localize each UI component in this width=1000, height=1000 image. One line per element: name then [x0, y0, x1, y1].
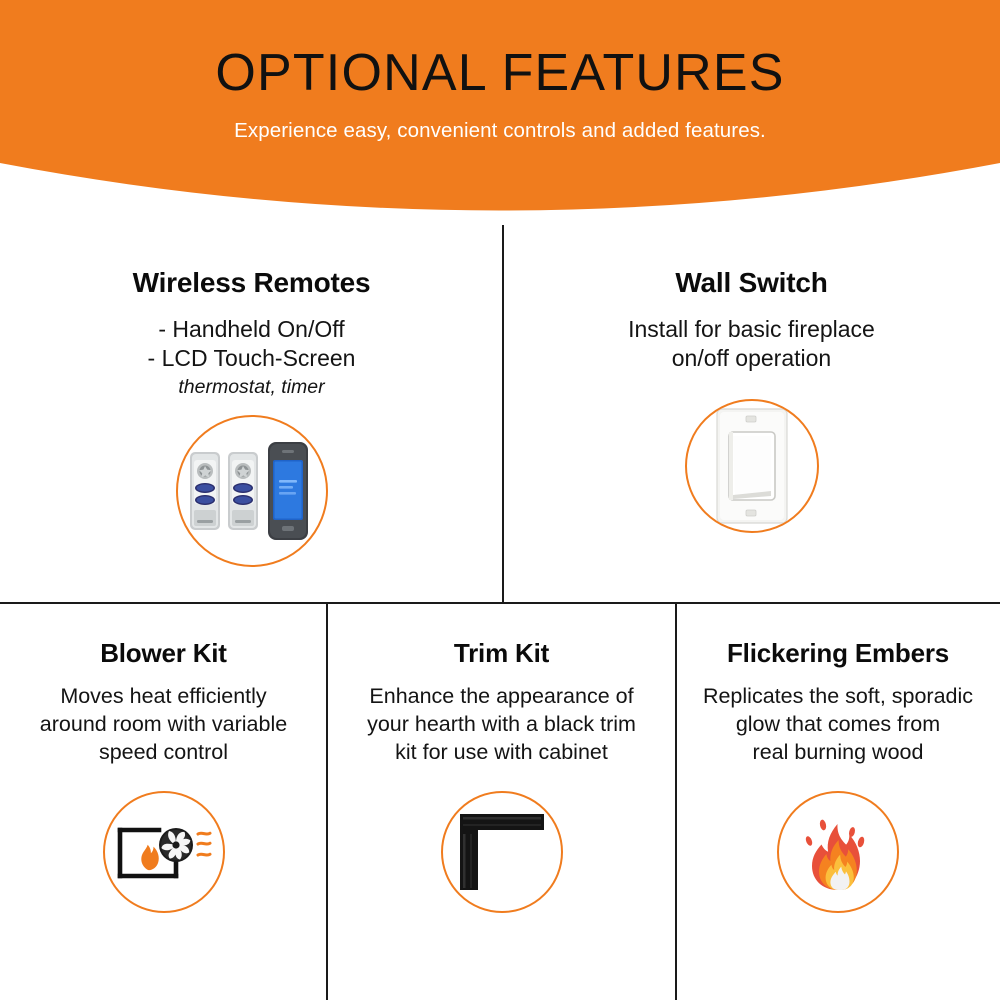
feature-description-line: Replicates the soft, sporadic	[703, 683, 973, 711]
feature-description-line: Install for basic fireplace	[628, 315, 875, 344]
feature-description-line: - Handheld On/Off	[148, 315, 356, 344]
feature-card-flickering-embers[interactable]: Flickering Embers Replicates the soft, s…	[676, 620, 1000, 913]
remotes-illustration	[182, 436, 322, 546]
airflow-lines	[198, 833, 210, 855]
feature-description-line: - LCD Touch-Screen	[148, 344, 356, 373]
feature-description-line: Enhance the appearance of	[367, 683, 636, 711]
corner-trim-icon	[441, 791, 563, 913]
feature-description-line: on/off operation	[628, 344, 875, 373]
feature-card-trim-kit[interactable]: Trim Kit Enhance the appearance of your …	[327, 620, 676, 913]
divider-horizontal-middle	[0, 602, 1000, 604]
lcd-touchscreen-remote	[268, 442, 308, 540]
handheld-remote-1	[190, 452, 220, 530]
feature-title: Flickering Embers	[727, 638, 949, 669]
page-title: OPTIONAL FEATURES	[0, 46, 1000, 101]
feature-title: Wireless Remotes	[133, 267, 371, 299]
feature-title: Wall Switch	[675, 267, 827, 299]
wireless-remotes-icon	[176, 415, 328, 567]
flame-shape	[141, 845, 158, 870]
wall-switch-illustration	[713, 407, 791, 525]
handheld-remote-2	[228, 452, 258, 530]
optional-features-page: OPTIONAL FEATURES Experience easy, conve…	[0, 0, 1000, 1000]
feature-description: Moves heat efficiently around room with …	[40, 683, 287, 767]
feature-title: Trim Kit	[454, 638, 549, 669]
feature-note: thermostat, timer	[178, 376, 324, 399]
feature-description-line: your hearth with a black trim	[367, 711, 636, 739]
features-grid: Wireless Remotes - Handheld On/Off - LCD…	[0, 225, 1000, 1000]
wall-switch-icon	[685, 399, 819, 533]
feature-card-wall-switch[interactable]: Wall Switch Install for basic fireplace …	[503, 245, 1000, 533]
feature-description: Enhance the appearance of your hearth wi…	[367, 683, 636, 767]
blower-illustration	[114, 814, 214, 890]
header-banner: OPTIONAL FEATURES Experience easy, conve…	[0, 0, 1000, 240]
blower-fan-icon	[103, 791, 225, 913]
feature-description-line: real burning wood	[703, 739, 973, 767]
feature-card-blower-kit[interactable]: Blower Kit Moves heat efficiently around…	[0, 620, 327, 913]
trim-corner-shape	[460, 814, 544, 890]
fan-wheel	[159, 828, 193, 862]
feature-description-line: speed control	[40, 739, 287, 767]
feature-description-line: around room with variable	[40, 711, 287, 739]
feature-description: Install for basic fireplace on/off opera…	[628, 315, 875, 373]
feature-description: Replicates the soft, sporadic glow that …	[703, 683, 973, 767]
flame-illustration	[792, 806, 884, 898]
feature-card-wireless-remotes[interactable]: Wireless Remotes - Handheld On/Off - LCD…	[0, 245, 503, 567]
feature-description-line: glow that comes from	[703, 711, 973, 739]
feature-title: Blower Kit	[100, 638, 227, 669]
header-text-block: OPTIONAL FEATURES Experience easy, conve…	[0, 0, 1000, 143]
flame-icon	[777, 791, 899, 913]
page-subtitle: Experience easy, convenient controls and…	[0, 119, 1000, 143]
feature-description: - Handheld On/Off - LCD Touch-Screen	[148, 315, 356, 373]
feature-description-line: kit for use with cabinet	[367, 739, 636, 767]
feature-description-line: Moves heat efficiently	[40, 683, 287, 711]
trim-corner-illustration	[456, 810, 548, 894]
